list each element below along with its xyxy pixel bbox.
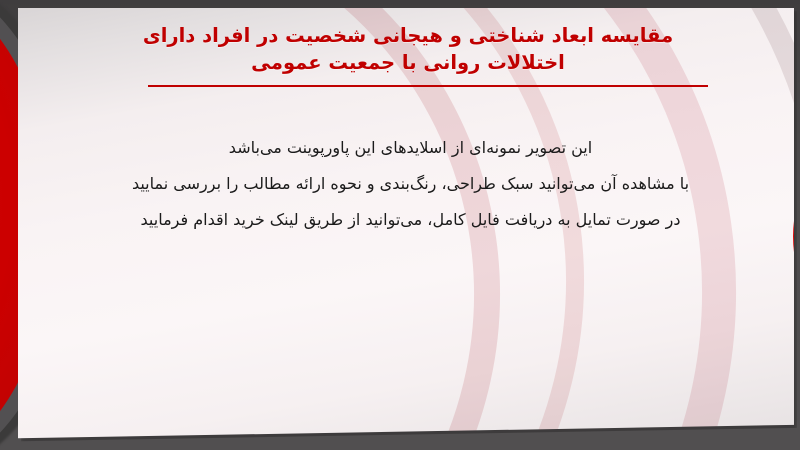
body-line-1: این تصویر نمونه‌ای از اسلایدهای این پاور… <box>73 130 748 166</box>
slide-body-text: این تصویر نمونه‌ای از اسلایدهای این پاور… <box>73 130 748 238</box>
slide-title-line-1: مقایسه ابعاد شناختی و هیجانی شخصیت در اف… <box>78 22 738 49</box>
body-line-3: در صورت تمایل به دریافت فایل کامل، می‌تو… <box>73 202 748 238</box>
content-panel: مقایسه ابعاد شناختی و هیجانی شخصیت در اف… <box>18 8 794 440</box>
body-line-2: با مشاهده آن می‌توانید سبک طراحی، رنگ‌بن… <box>73 166 748 202</box>
slide-title: مقایسه ابعاد شناختی و هیجانی شخصیت در اف… <box>78 22 738 76</box>
title-underline-rule <box>148 85 708 87</box>
slide-canvas: مقایسه ابعاد شناختی و هیجانی شخصیت در اف… <box>0 0 800 450</box>
slide-title-line-2: اختلالات روانی با جمعیت عمومی <box>78 49 738 76</box>
